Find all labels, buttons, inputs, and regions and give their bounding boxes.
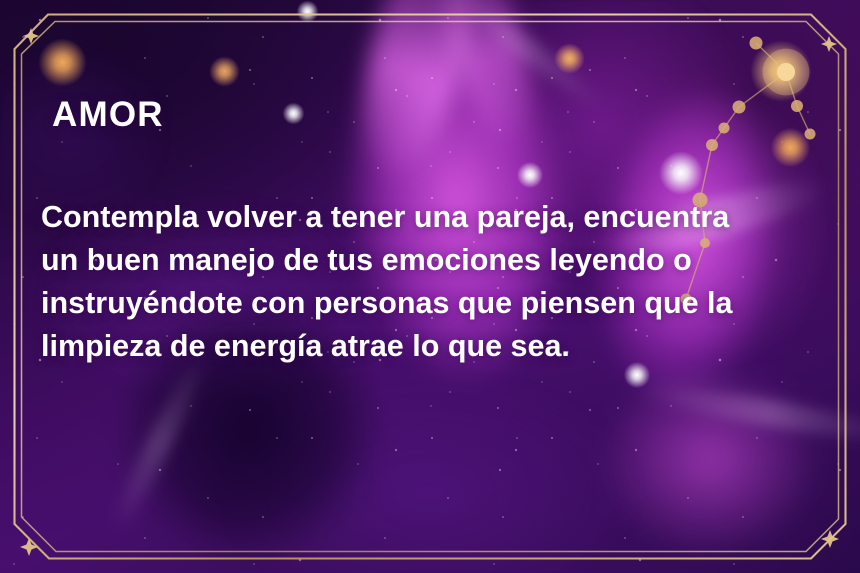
card-body-line: Contempla volver a tener una pareja, enc…	[41, 196, 831, 239]
card-body-line: un buen manejo de tus emociones leyendo …	[41, 239, 831, 282]
card-body-line: limpieza de energía atrae lo que sea.	[41, 325, 831, 368]
horoscope-card: AMOR Contempla volver a tener una pareja…	[0, 0, 860, 573]
card-body-text: Contempla volver a tener una pareja, enc…	[41, 196, 831, 368]
card-body-line: instruyéndote con personas que piensen q…	[41, 282, 831, 325]
card-content: AMOR Contempla volver a tener una pareja…	[0, 0, 860, 573]
card-title: AMOR	[52, 97, 164, 132]
